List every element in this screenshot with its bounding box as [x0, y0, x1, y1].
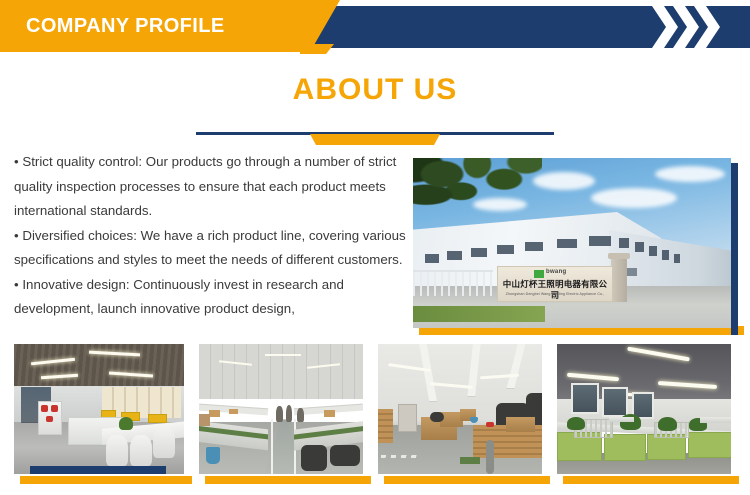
fence: [413, 270, 493, 296]
company-profile-title: COMPANY PROFILE: [26, 13, 225, 39]
about-section-header: ABOUT US: [0, 70, 750, 140]
about-us-heading: ABOUT US: [0, 70, 750, 110]
thumb-image-1: [14, 344, 184, 474]
equipment: [301, 445, 327, 471]
pallet-stack: [378, 409, 393, 443]
chevron-group: [652, 6, 736, 48]
green-pallet: [460, 457, 480, 464]
carton: [199, 414, 210, 426]
worker: [286, 405, 293, 422]
window: [662, 250, 669, 260]
title-divider: [196, 132, 554, 146]
body-paragraph-1: • Strict quality control: Our products g…: [14, 150, 410, 224]
thumb-orange-frame-2: [205, 476, 371, 484]
dark-item: [430, 412, 443, 422]
red-marker: [486, 422, 494, 427]
chair: [153, 427, 175, 458]
thumb-orange-frame-3: [384, 476, 550, 484]
ceiling: [199, 344, 363, 399]
bwang-logo-text: bwang: [546, 269, 567, 275]
grass-strip: [413, 306, 545, 322]
window: [589, 236, 611, 246]
chair: [130, 435, 152, 466]
window: [497, 245, 514, 254]
window: [425, 254, 439, 263]
red-product: [46, 416, 53, 423]
window: [635, 242, 644, 252]
window: [471, 248, 487, 257]
window: [674, 254, 680, 263]
factory-building-photo: bwang 中山灯杯王照明电器有限公司 Zhongshan Dengbei Wa…: [413, 158, 738, 333]
office-cubicles-photo: [557, 344, 739, 484]
page-header: COMPANY PROFILE: [0, 0, 750, 54]
window: [557, 239, 577, 248]
potted-plant: [567, 417, 584, 430]
desk-surface: [609, 417, 633, 422]
window: [525, 242, 543, 251]
potted-plant: [658, 417, 677, 431]
about-body-text: • Strict quality control: Our products g…: [14, 150, 410, 322]
red-product: [41, 405, 48, 412]
chair: [106, 435, 128, 466]
desk-surface: [700, 417, 731, 424]
red-product: [51, 405, 58, 412]
worker: [276, 406, 283, 422]
production-assembly-line-photo: [199, 344, 371, 484]
window: [619, 238, 629, 248]
floor-marking: [381, 455, 417, 458]
ceiling-light: [265, 354, 301, 356]
equipment: [330, 445, 360, 466]
floor-line: [271, 419, 273, 474]
window: [649, 246, 657, 256]
hero-photo-image: bwang 中山灯杯王照明电器有限公司 Zhongshan Dengbei Wa…: [413, 158, 731, 328]
thumb-image-3: [378, 344, 542, 474]
cloud-1: [533, 172, 595, 190]
trolley: [486, 440, 494, 474]
parts-box: [229, 409, 239, 414]
thumb-orange-frame-4: [563, 476, 739, 484]
window: [447, 251, 462, 260]
cubicle-panel: [604, 434, 646, 461]
cloud-3: [655, 166, 725, 182]
potted-plant: [119, 417, 133, 430]
showroom-office-photo: [14, 344, 192, 484]
door: [398, 404, 418, 433]
warehouse-storage-photo: [378, 344, 550, 484]
company-profile-page: COMPANY PROFILE ABOUT US • Strict qualit…: [0, 0, 750, 495]
gate-post: [611, 258, 627, 302]
thumb-navy-frame-1: [30, 466, 166, 474]
window-blind: [571, 383, 599, 414]
thumb-image-2: [199, 344, 363, 474]
thumb-image-4: [557, 344, 731, 474]
bwang-logo-mark: [534, 270, 544, 278]
parts-box: [324, 410, 335, 417]
hero-navy-frame: [731, 163, 738, 335]
divider-orange-tab: [304, 134, 446, 145]
parts-box: [209, 410, 220, 417]
cubicle-panel: [688, 432, 732, 458]
body-paragraph-2: • Diversified choices: We have a rich pr…: [14, 224, 410, 273]
gold-plaque: [148, 414, 167, 423]
carton: [506, 417, 536, 433]
company-sign: bwang 中山灯杯王照明电器有限公司 Zhongshan Dengbei Wa…: [497, 266, 613, 302]
sign-english-name: Zhongshan Dengbei Wang Lighting Electric…: [502, 292, 608, 300]
thumb-orange-frame-1: [20, 476, 192, 484]
window-blind: [602, 387, 628, 417]
chevron-right-icon-1: [652, 6, 678, 48]
trash-bin: [206, 447, 221, 464]
window: [627, 268, 637, 276]
header-orange-notch: [300, 44, 334, 54]
worker: [297, 408, 304, 422]
cloud-2: [591, 188, 677, 208]
body-paragraph-3: • Innovative design: Continuously invest…: [14, 273, 410, 322]
